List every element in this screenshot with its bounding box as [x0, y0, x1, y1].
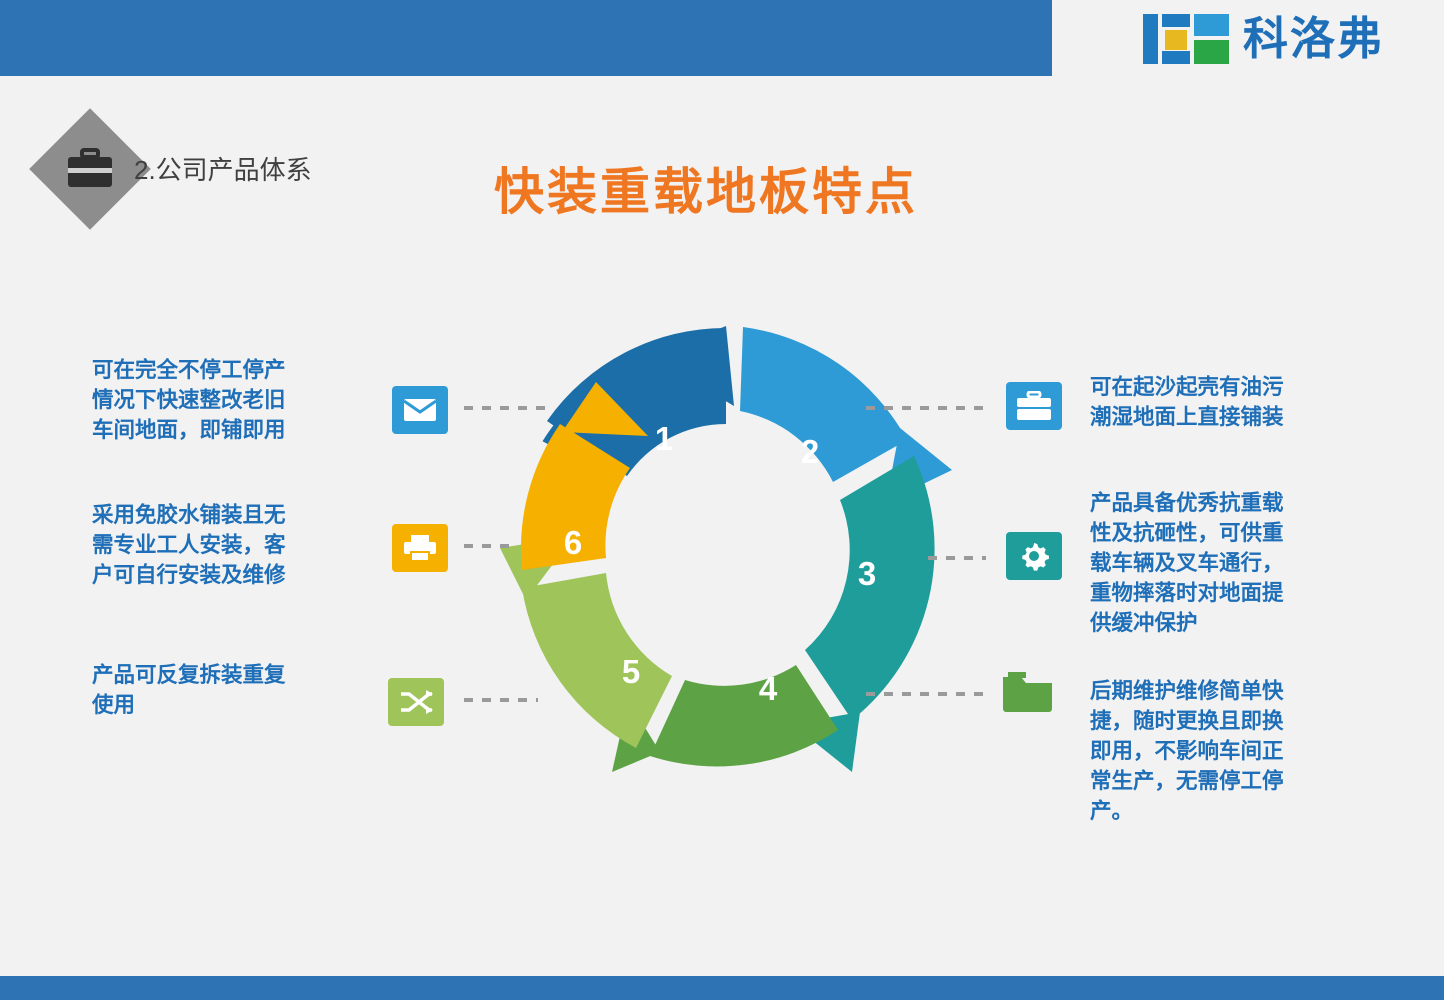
segment-number-3: 3: [847, 555, 887, 593]
segment-number-4: 4: [748, 670, 788, 708]
briefcase-icon-right: [1006, 382, 1062, 430]
cycle-diagram: 1 2 3 4 5 6: [500, 320, 952, 772]
envelope-glyph: [403, 398, 437, 422]
connector-left-3: [464, 698, 538, 702]
right-item-text-2: 产品具备优秀抗重载 性及抗砸性，可供重 载车辆及叉车通行， 重物摔落时对地面提 …: [1090, 488, 1390, 638]
logo-mark-icon: [1143, 14, 1229, 64]
shuffle-glyph: [399, 689, 433, 715]
connector-right-3: [866, 692, 986, 696]
header-bar: [0, 0, 1052, 76]
segment-number-5: 5: [611, 653, 651, 691]
printer-icon: [392, 524, 448, 572]
footer-bar: [0, 976, 1444, 1000]
connector-left-2: [464, 544, 516, 548]
right-item-text-3: 后期维护维修简单快 捷，随时更换且即换 即用，不影响车间正 常生产，无需停工停 …: [1090, 676, 1390, 826]
page-title: 快装重载地板特点: [494, 152, 918, 224]
folder-glyph: [1002, 671, 1054, 713]
left-item-text-2: 采用免胶水铺装且无 需专业工人安装，客 户可自行安装及维修: [92, 500, 372, 590]
folder-icon: [1000, 668, 1056, 716]
keluofu-logo: 科洛弗: [1143, 14, 1384, 64]
connector-left-1: [464, 406, 546, 410]
section-title: 2.公司产品体系: [134, 150, 312, 187]
briefcase-glyph: [1016, 391, 1052, 421]
right-item-text-1: 可在起沙起壳有油污 潮湿地面上直接铺装: [1090, 372, 1380, 432]
segment-number-2: 2: [790, 433, 830, 471]
gear-icon: [1006, 532, 1062, 580]
logo-text: 科洛弗: [1243, 14, 1384, 64]
connector-right-1: [866, 406, 986, 410]
printer-glyph: [403, 534, 437, 562]
segment-number-1: 1: [644, 420, 684, 458]
left-item-text-1: 可在完全不停工停产 情况下快速整改老旧 车间地面，即铺即用: [92, 355, 372, 445]
envelope-icon: [392, 386, 448, 434]
briefcase-icon: [66, 148, 114, 190]
connector-right-2: [928, 556, 986, 560]
segment-number-6: 6: [553, 524, 593, 562]
shuffle-icon: [388, 678, 444, 726]
gear-glyph: [1019, 541, 1049, 571]
left-item-text-3: 产品可反复拆装重复 使用: [92, 660, 372, 720]
